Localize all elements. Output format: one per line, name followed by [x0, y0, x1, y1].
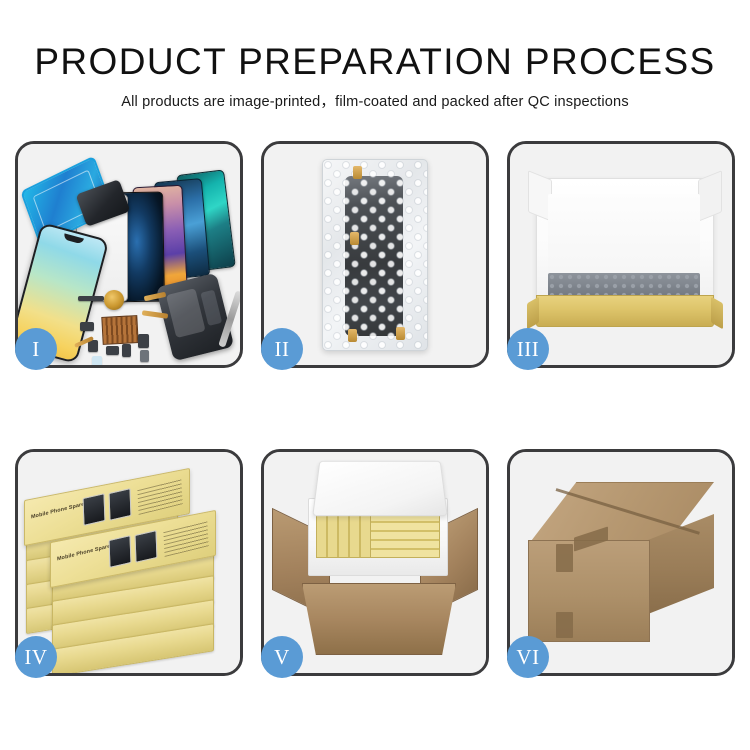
bubble-wrap-bag [322, 159, 428, 351]
carton-body [302, 583, 456, 655]
header: PRODUCT PREPARATION PROCESS All products… [0, 40, 750, 111]
box-spec-lines [137, 478, 182, 515]
carton-tape [556, 612, 573, 638]
box-stack: Mobile Phone Spare Parts Mobile Phone Sp… [18, 452, 240, 673]
sealed-carton-scene [510, 452, 732, 673]
carton-tape [556, 544, 573, 572]
small-part [80, 322, 94, 331]
small-part [106, 346, 119, 355]
step-panel-2: II [261, 141, 489, 368]
product-preparation-infographic: PRODUCT PREPARATION PROCESS All products… [0, 0, 750, 750]
page-title: PRODUCT PREPARATION PROCESS [0, 40, 750, 84]
step-badge-6: VI [507, 636, 549, 678]
small-part [122, 344, 131, 357]
tape-tab [353, 166, 362, 179]
styrofoam-lid [312, 461, 448, 516]
phone-parts-collage [18, 144, 240, 365]
step-badge-2: II [261, 328, 303, 370]
inner-box-scene [510, 172, 732, 337]
kraft-box-base [536, 295, 714, 327]
small-part [78, 296, 104, 301]
tape-tab [350, 232, 359, 245]
step-image-3 [510, 144, 732, 365]
step-panel-6: VI [507, 449, 735, 676]
step-panel-1: I [15, 141, 243, 368]
step-badge-3: III [507, 328, 549, 370]
step-panel-3: III [507, 141, 735, 368]
step-image-1 [18, 144, 240, 365]
small-part [138, 334, 149, 348]
step-image-5 [264, 452, 486, 673]
small-part [88, 340, 98, 352]
step-image-4: Mobile Phone Spare Parts Mobile Phone Sp… [18, 452, 240, 673]
open-carton-scene [264, 452, 486, 673]
speaker-coil-part [104, 290, 124, 310]
chip-grid-part [101, 315, 138, 345]
carton-front-face [528, 540, 650, 642]
process-steps-grid: I II [15, 141, 735, 676]
tape-tab [348, 329, 357, 342]
step-badge-4: IV [15, 636, 57, 678]
step-panel-5: V [261, 449, 489, 676]
small-part [92, 356, 102, 365]
page-subtitle: All products are image-printed，film-coat… [0, 90, 750, 111]
step-badge-5: V [261, 636, 303, 678]
yellow-boxes-row [370, 510, 440, 558]
box-screen-graphic [83, 493, 106, 526]
step-badge-1: I [15, 328, 57, 370]
step-panel-4: Mobile Phone Spare Parts Mobile Phone Sp… [15, 449, 243, 676]
small-part [140, 350, 149, 362]
bubble-texture [323, 160, 427, 350]
box-screen-graphic [109, 488, 132, 521]
box-screen-graphic [109, 535, 132, 568]
tape-tab [396, 327, 405, 340]
box-spec-lines [163, 520, 208, 557]
box-screen-graphic [135, 530, 158, 563]
step-image-6 [510, 452, 732, 673]
step-image-2 [264, 144, 486, 365]
